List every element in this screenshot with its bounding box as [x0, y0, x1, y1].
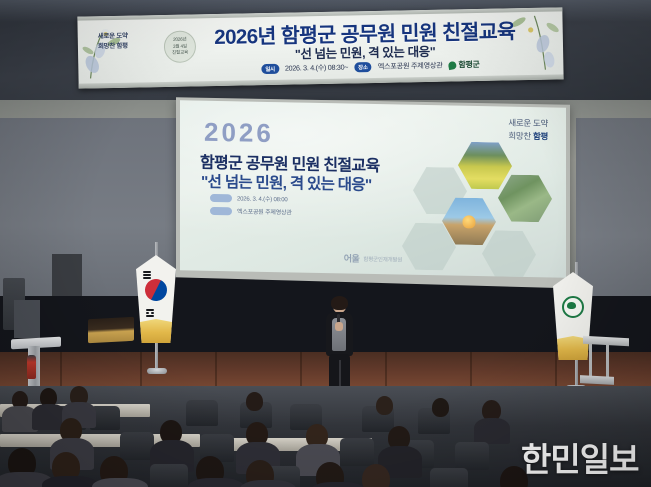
slide-slogan-line1: 새로운 도약	[508, 117, 548, 131]
presenter-hands	[335, 322, 343, 331]
audience-head	[246, 392, 263, 411]
slide-year: 2026	[204, 117, 274, 149]
wall-vent-panel	[14, 300, 40, 338]
slide-slogan-line2: 희망찬 함평	[508, 130, 548, 144]
audience-shoulders	[188, 478, 244, 487]
presenter-hair	[331, 296, 348, 310]
audience-head	[432, 398, 449, 417]
seat	[430, 468, 468, 487]
audience-shoulders	[474, 418, 510, 444]
event-banner: 새로운 도약 희망찬 함평 2026년 3월 4일 친절교육 2026년 함평군…	[77, 7, 563, 88]
taeguk-symbol	[144, 278, 169, 303]
seat	[186, 400, 218, 426]
photo-scene: 새로운 도약 희망찬 함평 2026년 3월 4일 친절교육 2026년 함평군…	[0, 0, 651, 487]
table-leg	[606, 344, 609, 378]
flag-fringe-left	[136, 319, 176, 343]
seat	[150, 464, 188, 487]
banner-left-slogan: 새로운 도약 희망찬 함평	[98, 32, 128, 52]
slide-subtitle: "선 넘는 민원, 격 있는 대응"	[201, 170, 372, 195]
slide-logo-text: 함평군인재개발원	[363, 254, 402, 263]
audience-shoulders	[310, 482, 366, 487]
banner-cloth: 새로운 도약 희망찬 함평 2026년 3월 4일 친절교육 2026년 함평군…	[77, 7, 563, 88]
county-emblem-icon	[562, 296, 584, 318]
slide-place-text: 엑스포공원 주제영상관	[237, 206, 292, 216]
banner-organizer: 함평군	[448, 59, 479, 71]
flag-cloth-korean	[136, 255, 176, 343]
banner-slogan-line1: 새로운 도약	[98, 32, 128, 42]
slide-slogan-prefix: 희망찬	[508, 131, 533, 141]
banner-place-pill: 장소	[354, 62, 372, 72]
banner-seal: 2026년 3월 4일 친절교육	[164, 30, 197, 63]
slide-meta-list: 2026. 3. 4.(수) 08:00 엑스포공원 주제영상관	[210, 193, 292, 217]
slide-slogan-bold: 함평	[533, 131, 548, 141]
projection-screen: 2026 함평군 공무원 민원 친절교육 "선 넘는 민원, 격 있는 대응" …	[180, 100, 566, 277]
seat	[120, 432, 154, 460]
slide-date-pill	[210, 193, 232, 201]
table-foot	[580, 375, 614, 385]
press-watermark: 한민일보	[521, 443, 638, 476]
monument-shape	[463, 216, 476, 229]
seat	[340, 438, 374, 466]
slide-meta-item: 2026. 3. 4.(수) 08:00	[210, 193, 292, 204]
slide-date-text: 2026. 3. 4.(수) 08:00	[237, 193, 288, 203]
seat	[455, 442, 489, 470]
slide-logo-mark: 어울	[344, 251, 360, 264]
county-leaf-icon	[448, 60, 457, 69]
slide-slogan: 새로운 도약 희망찬 함평	[508, 117, 548, 144]
audience-head	[362, 464, 390, 487]
slide-meta-item: 엑스포공원 주제영상관	[210, 206, 292, 217]
slide-footer-logo: 어울 함평군인재개발원	[344, 251, 402, 265]
flag-cloth-county	[553, 272, 593, 360]
seal-line-3: 친절교육	[172, 50, 188, 57]
banner-organizer-name: 함평군	[458, 59, 479, 70]
table-leg	[589, 344, 592, 378]
audience-shoulders	[240, 480, 296, 487]
banner-place-text: 엑스포공원 주제영상관	[378, 60, 443, 71]
slide-place-pill	[210, 206, 232, 214]
audience-shoulders	[42, 476, 98, 487]
banner-date-pill: 일시	[261, 63, 279, 73]
flag-base-left	[147, 368, 167, 374]
fire-extinguisher	[27, 355, 36, 379]
audience-shoulders	[92, 478, 148, 487]
banner-slogan-line2: 희망찬 함평	[98, 41, 128, 51]
banner-date-text: 2026. 3. 4.(수) 08:30~	[285, 62, 348, 73]
audience-head	[376, 396, 393, 415]
traditional-chest	[88, 317, 134, 343]
